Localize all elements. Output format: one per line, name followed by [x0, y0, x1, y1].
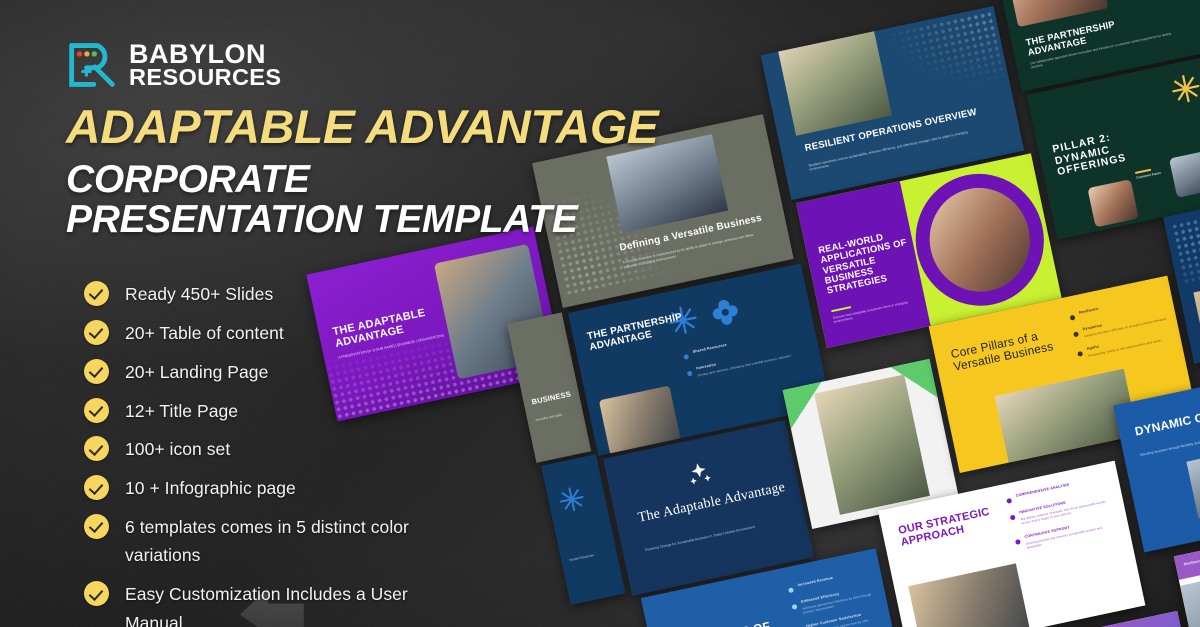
starburst-icon: [1168, 71, 1200, 107]
babylon-r-mark-icon: [66, 40, 118, 90]
check-icon: [84, 475, 109, 500]
clover-icon: [709, 296, 742, 329]
list-item: 12+ Title Page: [84, 397, 414, 425]
page-title: ADAPTABLE ADVANTAGE: [66, 99, 658, 154]
slide-subtitle: Increased Revenue: [797, 576, 834, 591]
star-cluster-icon: [684, 457, 715, 488]
check-icon: [84, 398, 109, 423]
list-item: 20+ Table of content: [84, 319, 414, 347]
check-icon: [84, 514, 109, 539]
slide-title: KEY METRICS OF SUCCESS: [666, 619, 779, 627]
check-icon: [84, 581, 109, 606]
slide-title: Core Pillars of a Versatile Business: [950, 326, 1061, 374]
brand-name-line2: RESOURCES: [129, 67, 281, 87]
slide-subtitle: Resilience: [1079, 307, 1100, 319]
feature-label: Ready 450+ Slides: [125, 280, 273, 308]
slide-subtitle: Powering Change for Sustainable Business…: [645, 521, 773, 553]
feature-label: 20+ Landing Page: [125, 358, 268, 386]
list-item: Ready 450+ Slides: [84, 280, 414, 308]
list-item: Easy Customization Includes a User Manua…: [84, 580, 414, 627]
check-icon: [84, 320, 109, 345]
check-icon: [84, 359, 109, 384]
list-item: 6 templates comes in 5 distinct color va…: [84, 513, 414, 570]
feature-label: 10 + Infographic page: [125, 474, 296, 502]
list-item: 10 + Infographic page: [84, 474, 414, 502]
slide-title: DYNAMIC OFFERINGS: [1134, 393, 1200, 438]
list-item: 20+ Landing Page: [84, 358, 414, 386]
check-icon: [84, 436, 109, 461]
promo-banner: THE ADAPTABLE ADVANTAGE A PRESENTATION B…: [0, 0, 1200, 627]
brand-logo[interactable]: BABYLON RESOURCES: [66, 40, 281, 90]
feature-label: Easy Customization Includes a User Manua…: [125, 580, 414, 627]
slide-subtitle: COMPREHENSIVE ANALYSIS: [1015, 483, 1070, 502]
slide-title: The Adaptable Advantage: [637, 480, 787, 526]
left-panel: BABYLON RESOURCES ADAPTABLE ADVANTAGE CO…: [0, 0, 620, 627]
feature-label: 100+ icon set: [125, 435, 230, 463]
feature-label: 6 templates comes in 5 distinct color va…: [125, 513, 414, 570]
list-item: 100+ icon set: [84, 435, 414, 463]
slide-subtitle: Shared Resources: [692, 343, 728, 358]
slide-title: OUR STRATEGIC APPROACH: [897, 504, 1004, 549]
feature-label: 20+ Table of content: [125, 319, 284, 347]
page-subtitle: CORPORATE PRESENTATION TEMPLATE: [66, 160, 606, 240]
feature-list: Ready 450+ Slides 20+ Table of content 2…: [84, 280, 414, 627]
feature-label: 12+ Title Page: [125, 397, 238, 425]
brand-name-line1: BABYLON: [129, 43, 281, 66]
check-icon: [84, 281, 109, 306]
